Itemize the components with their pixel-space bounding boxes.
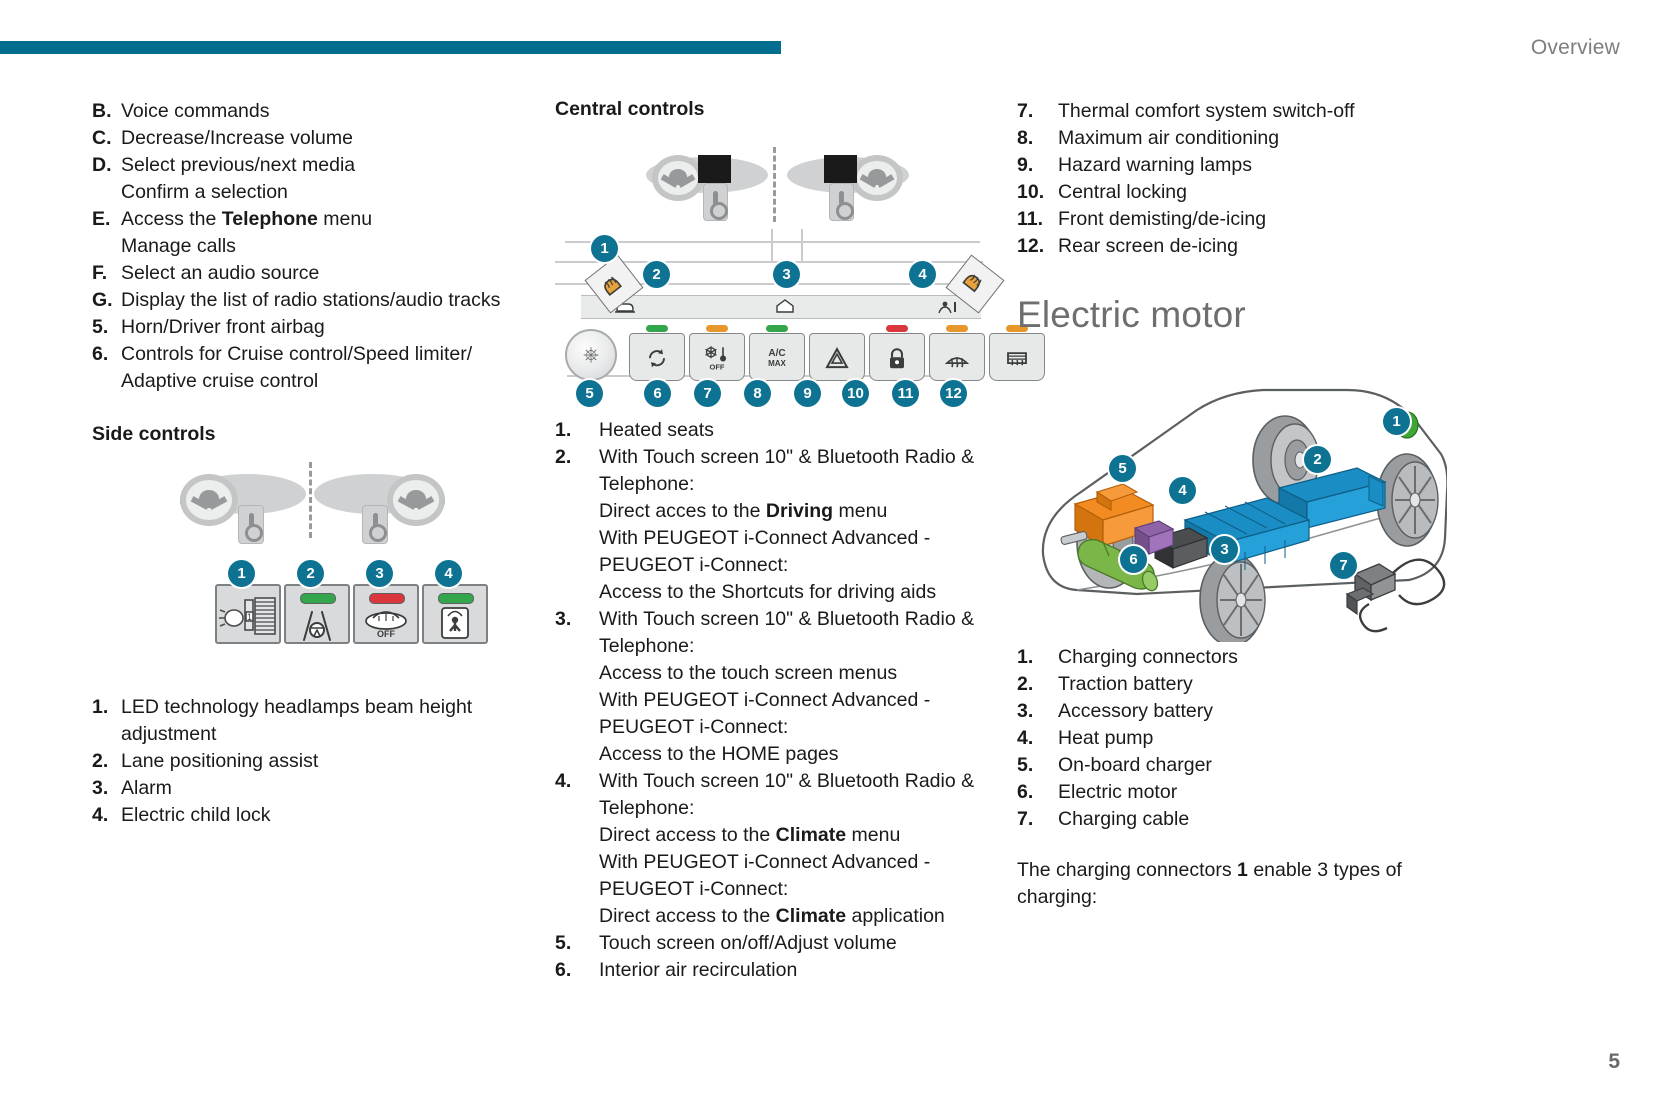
list-item-line: Confirm a selection: [121, 179, 522, 206]
diagram-badge-3: 3: [1211, 536, 1238, 563]
left-column: B.Voice commandsC.Decrease/Increase volu…: [92, 98, 522, 829]
led-indicator-green: [766, 325, 788, 332]
list-item: E.Access the Telephone menuManage calls: [92, 206, 522, 260]
svg-text:1: 1: [247, 612, 252, 622]
list-item-text: Heated seats: [599, 417, 990, 444]
list-item-line: Traction battery: [1058, 671, 1447, 698]
diagram-badge-3: 3: [773, 261, 800, 288]
list-item-line: Select an audio source: [121, 260, 522, 287]
list-item: D.Select previous/next mediaConfirm a se…: [92, 152, 522, 206]
list-item-marker: 2.: [1017, 671, 1058, 698]
list-item-marker: G.: [92, 287, 121, 314]
central-controls-continued-list: 7.Thermal comfort system switch-off8.Max…: [1017, 98, 1447, 260]
list-item-marker: C.: [92, 125, 121, 152]
list-item: 5.On-board charger: [1017, 752, 1447, 779]
list-item-text: Lane positioning assist: [121, 748, 522, 775]
list-item-marker: 7.: [1017, 98, 1058, 125]
svg-text:OFF: OFF: [377, 629, 395, 639]
button-central-locking[interactable]: [869, 333, 925, 381]
led-indicator-green: [646, 325, 668, 332]
hazard-warning-icon: [810, 347, 864, 369]
list-item-marker: 1.: [1017, 644, 1058, 671]
console-icon-strip: [581, 295, 981, 319]
header-accent-bar: [0, 41, 781, 54]
switch-electric-child-lock[interactable]: [422, 584, 488, 644]
list-item-line: With Touch screen 10" & Bluetooth Radio …: [599, 444, 990, 471]
air-recirculation-icon: [630, 346, 684, 370]
diagram-badge-4: 4: [909, 261, 936, 288]
list-item-marker: 6.: [555, 957, 599, 984]
list-item-line: With PEUGEOT i-Connect Advanced -: [599, 687, 990, 714]
list-item-line: Charging connectors: [1058, 644, 1447, 671]
list-item-line: Access to the touch screen menus: [599, 660, 990, 687]
led-indicator-red: [369, 593, 405, 604]
list-item-marker: 3.: [1017, 698, 1058, 725]
list-item-marker: 2.: [555, 444, 599, 606]
side-controls-list: 1.LED technology headlamps beam heightad…: [92, 694, 522, 829]
list-item: F.Select an audio source: [92, 260, 522, 287]
list-item-text: Hazard warning lamps: [1058, 152, 1447, 179]
list-item-line: PEUGEOT i-Connect:: [599, 876, 990, 903]
list-item-text: Charging cable: [1058, 806, 1447, 833]
list-item-marker: 1.: [555, 417, 599, 444]
list-item-line: On-board charger: [1058, 752, 1447, 779]
dashboard-right-hand-drive: [320, 474, 445, 536]
list-item-marker: 12.: [1017, 233, 1058, 260]
diagram-badge-1: 1: [228, 560, 255, 587]
diagram-badge-4: 4: [1169, 477, 1196, 504]
list-item: 1.LED technology headlamps beam heightad…: [92, 694, 522, 748]
diagram-badge-2: 2: [297, 560, 324, 587]
list-item-line: Voice commands: [121, 98, 522, 125]
paragraph-pre: The charging connectors: [1017, 859, 1237, 881]
page-number: 5: [1608, 1050, 1620, 1074]
dashboard-left-hand-drive: [640, 157, 770, 227]
diagram-badge-1: 1: [1383, 408, 1410, 435]
diagram-badge-5: 5: [576, 380, 603, 407]
list-item-text: Controls for Cruise control/Speed limite…: [121, 341, 522, 395]
diagram-divider: [773, 147, 776, 222]
list-item-line: Hazard warning lamps: [1058, 152, 1447, 179]
list-item-text: Decrease/Increase volume: [121, 125, 522, 152]
list-item-line: Display the list of radio stations/audio…: [121, 287, 522, 314]
diagram-badge-6: 6: [1120, 546, 1147, 573]
list-item-text: Thermal comfort system switch-off: [1058, 98, 1447, 125]
diagram-badge-3: 3: [366, 560, 393, 587]
list-item-line: Alarm: [121, 775, 522, 802]
list-item: 12.Rear screen de-icing: [1017, 233, 1447, 260]
list-item-text: Interior air recirculation: [599, 957, 990, 984]
list-item: 4.Heat pump: [1017, 725, 1447, 752]
list-item: 6.Electric motor: [1017, 779, 1447, 806]
diagram-badge-4: 4: [435, 560, 462, 587]
list-item-line: Heat pump: [1058, 725, 1447, 752]
list-item-line: Direct access to the Climate application: [599, 903, 990, 930]
central-controls-heading: Central controls: [555, 98, 990, 121]
button-air-recirculation[interactable]: [629, 333, 685, 381]
list-item-line: Thermal comfort system switch-off: [1058, 98, 1447, 125]
dashboard-left-hand-drive: [180, 474, 305, 536]
list-item-marker: F.: [92, 260, 121, 287]
led-indicator-green: [300, 593, 336, 604]
list-item-text: Electric child lock: [121, 802, 522, 829]
list-item-marker: 6.: [1017, 779, 1058, 806]
list-item: 3.Alarm: [92, 775, 522, 802]
list-item-text: Alarm: [121, 775, 522, 802]
list-item-marker: 4.: [92, 802, 121, 829]
list-item-marker: 9.: [1017, 152, 1058, 179]
thermal-comfort-off-icon: OFF: [690, 345, 744, 371]
emphasis: Climate: [776, 824, 846, 846]
diagram-badge-5: 5: [1109, 455, 1136, 482]
list-item-text: On-board charger: [1058, 752, 1447, 779]
list-item-line: With Touch screen 10" & Bluetooth Radio …: [599, 606, 990, 633]
list-item: 4.Electric child lock: [92, 802, 522, 829]
list-item-text: With Touch screen 10" & Bluetooth Radio …: [599, 444, 990, 606]
list-item-marker: B.: [92, 98, 121, 125]
side-controls-heading: Side controls: [92, 423, 522, 446]
touchscreen-power-button[interactable]: ⎈: [565, 329, 617, 381]
list-item-text: Select an audio source: [121, 260, 522, 287]
list-item-line: With Touch screen 10" & Bluetooth Radio …: [599, 768, 990, 795]
list-item: G.Display the list of radio stations/aud…: [92, 287, 522, 314]
list-item: 5.Touch screen on/off/Adjust volume: [555, 930, 990, 957]
list-item-line: PEUGEOT i-Connect:: [599, 552, 990, 579]
list-item-marker: 4.: [555, 768, 599, 930]
list-item: 6.Interior air recirculation: [555, 957, 990, 984]
list-item-text: Traction battery: [1058, 671, 1447, 698]
led-indicator-green: [438, 593, 474, 604]
diagram-badge-7: 7: [694, 380, 721, 407]
button-ac-max[interactable]: A/C MAX: [749, 333, 805, 381]
front-demisting-icon: [930, 347, 984, 369]
list-item: 2.Lane positioning assist: [92, 748, 522, 775]
diagram-badge-2: 2: [643, 261, 670, 288]
list-item-marker: 5.: [555, 930, 599, 957]
side-controls-diagram: 1 OFF: [92, 456, 522, 688]
list-item-text: Voice commands: [121, 98, 522, 125]
list-item-line: Telephone:: [599, 795, 990, 822]
list-item-text: Access the Telephone menuManage calls: [121, 206, 522, 260]
list-item-marker: 1.: [92, 694, 121, 748]
list-item-text: With Touch screen 10" & Bluetooth Radio …: [599, 606, 990, 768]
list-item-text: Heat pump: [1058, 725, 1447, 752]
electric-motor-section-title: Electric motor: [1017, 294, 1447, 336]
list-item-marker: 5.: [92, 314, 121, 341]
list-item-text: Display the list of radio stations/audio…: [121, 287, 522, 314]
list-item: 11.Front demisting/de-icing: [1017, 206, 1447, 233]
list-item-marker: 3.: [555, 606, 599, 768]
list-item-line: Front demisting/de-icing: [1058, 206, 1447, 233]
list-item-marker: E.: [92, 206, 121, 260]
diagram-badge-11: 11: [892, 380, 919, 407]
list-item-line: Heated seats: [599, 417, 990, 444]
list-item-line: With PEUGEOT i-Connect Advanced -: [599, 849, 990, 876]
electric-motor-list: 1.Charging connectors2.Traction battery3…: [1017, 644, 1447, 833]
list-item-marker: 8.: [1017, 125, 1058, 152]
list-item-text: Central locking: [1058, 179, 1447, 206]
dashboard-right-hand-drive: [785, 157, 915, 227]
list-item-line: Rear screen de-icing: [1058, 233, 1447, 260]
list-item-line: Maximum air conditioning: [1058, 125, 1447, 152]
list-item-line: Telephone:: [599, 633, 990, 660]
diagram-badge-7: 7: [1330, 552, 1357, 579]
list-item-text: Accessory battery: [1058, 698, 1447, 725]
list-item-line: Central locking: [1058, 179, 1447, 206]
list-item: 1.Charging connectors: [1017, 644, 1447, 671]
button-thermal-comfort-off[interactable]: OFF: [689, 333, 745, 381]
list-item: B.Voice commands: [92, 98, 522, 125]
list-item-line: LED technology headlamps beam height: [121, 694, 522, 721]
list-item: 1.Heated seats: [555, 417, 990, 444]
diagram-badge-10: 10: [842, 380, 869, 407]
list-item-line: Decrease/Increase volume: [121, 125, 522, 152]
list-item-marker: D.: [92, 152, 121, 206]
emphasis: Climate: [776, 905, 846, 927]
list-item-line: Controls for Cruise control/Speed limite…: [121, 341, 522, 368]
list-item-text: Select previous/next mediaConfirm a sele…: [121, 152, 522, 206]
list-item-line: Lane positioning assist: [121, 748, 522, 775]
list-item-line: Access the Telephone menu: [121, 206, 522, 233]
list-item-line: Select previous/next media: [121, 152, 522, 179]
electric-motor-diagram: 1 2 3 4 5 6 7: [1017, 342, 1447, 642]
list-item-marker: 10.: [1017, 179, 1058, 206]
list-item-marker: 2.: [92, 748, 121, 775]
list-item-text: Charging connectors: [1058, 644, 1447, 671]
list-item-line: Electric child lock: [121, 802, 522, 829]
list-item: 9.Hazard warning lamps: [1017, 152, 1447, 179]
list-item-line: Direct acces to the Driving menu: [599, 498, 990, 525]
list-item-text: Electric motor: [1058, 779, 1447, 806]
central-locking-icon: [870, 346, 924, 370]
list-item-text: LED technology headlamps beam heightadju…: [121, 694, 522, 748]
list-item-line: With PEUGEOT i-Connect Advanced -: [599, 525, 990, 552]
list-item-line: Interior air recirculation: [599, 957, 990, 984]
list-item-marker: 3.: [92, 775, 121, 802]
list-item-line: Manage calls: [121, 233, 522, 260]
led-indicator-orange: [706, 325, 728, 332]
diagram-badge-2: 2: [1304, 446, 1331, 473]
list-item: 2.Traction battery: [1017, 671, 1447, 698]
diagram-badge-12: 12: [940, 380, 967, 407]
list-item: C.Decrease/Increase volume: [92, 125, 522, 152]
right-column: 7.Thermal comfort system switch-off8.Max…: [1017, 98, 1447, 911]
list-item: 4.With Touch screen 10" & Bluetooth Radi…: [555, 768, 990, 930]
diagram-badge-8: 8: [744, 380, 771, 407]
emphasis: Telephone: [222, 208, 318, 230]
list-item-text: Rear screen de-icing: [1058, 233, 1447, 260]
list-item-line: Accessory battery: [1058, 698, 1447, 725]
list-item-marker: 7.: [1017, 806, 1058, 833]
button-front-demisting[interactable]: [929, 333, 985, 381]
list-item: 7.Thermal comfort system switch-off: [1017, 98, 1447, 125]
switch-alarm[interactable]: OFF: [353, 584, 419, 644]
list-item-marker: 4.: [1017, 725, 1058, 752]
list-item-line: Direct access to the Climate menu: [599, 822, 990, 849]
list-item-line: Horn/Driver front airbag: [121, 314, 522, 341]
list-item-line: Adaptive cruise control: [121, 368, 522, 395]
list-item-line: Charging cable: [1058, 806, 1447, 833]
diagram-badge-1: 1: [591, 235, 618, 262]
paragraph-bold-ref: 1: [1237, 859, 1248, 881]
diagram-badge-9: 9: [794, 380, 821, 407]
list-item: 7.Charging cable: [1017, 806, 1447, 833]
list-item: 3.With Touch screen 10" & Bluetooth Radi…: [555, 606, 990, 768]
list-item-text: Horn/Driver front airbag: [121, 314, 522, 341]
list-item-line: Electric motor: [1058, 779, 1447, 806]
list-item-line: Access to the Shortcuts for driving aids: [599, 579, 990, 606]
emphasis: Driving: [766, 500, 833, 522]
list-item-line: adjustment: [121, 721, 522, 748]
list-item-text: Touch screen on/off/Adjust volume: [599, 930, 990, 957]
middle-column: Central controls: [555, 98, 990, 984]
list-item-text: Front demisting/de-icing: [1058, 206, 1447, 233]
list-item-marker: 6.: [92, 341, 121, 395]
steering-controls-list: B.Voice commandsC.Decrease/Increase volu…: [92, 98, 522, 395]
button-hazard-warning-lamps[interactable]: [809, 333, 865, 381]
central-controls-list: 1.Heated seats2.With Touch screen 10" & …: [555, 417, 990, 984]
list-item-text: Maximum air conditioning: [1058, 125, 1447, 152]
list-item-line: Access to the HOME pages: [599, 741, 990, 768]
charging-connectors-paragraph: The charging connectors 1 enable 3 types…: [1017, 857, 1447, 911]
list-item: 6.Controls for Cruise control/Speed limi…: [92, 341, 522, 395]
central-controls-diagram: ⎈: [555, 143, 990, 413]
diagram-badge-6: 6: [644, 380, 671, 407]
page-header-title: Overview: [1531, 36, 1620, 60]
list-item-marker: 5.: [1017, 752, 1058, 779]
list-item-marker: 11.: [1017, 206, 1058, 233]
list-item-text: With Touch screen 10" & Bluetooth Radio …: [599, 768, 990, 930]
list-item: 5.Horn/Driver front airbag: [92, 314, 522, 341]
switch-lane-positioning-assist[interactable]: [284, 584, 350, 644]
list-item: 3.Accessory battery: [1017, 698, 1447, 725]
list-item: 8.Maximum air conditioning: [1017, 125, 1447, 152]
list-item-line: Touch screen on/off/Adjust volume: [599, 930, 990, 957]
list-item-line: PEUGEOT i-Connect:: [599, 714, 990, 741]
led-indicator-red: [886, 325, 908, 332]
ac-max-icon: A/C MAX: [750, 348, 804, 368]
diagram-divider: [309, 462, 312, 538]
led-indicator-orange: [946, 325, 968, 332]
list-item-line: Telephone:: [599, 471, 990, 498]
list-item: 10.Central locking: [1017, 179, 1447, 206]
list-item: 2.With Touch screen 10" & Bluetooth Radi…: [555, 444, 990, 606]
switch-headlamp-beam-height[interactable]: 1: [215, 584, 281, 644]
